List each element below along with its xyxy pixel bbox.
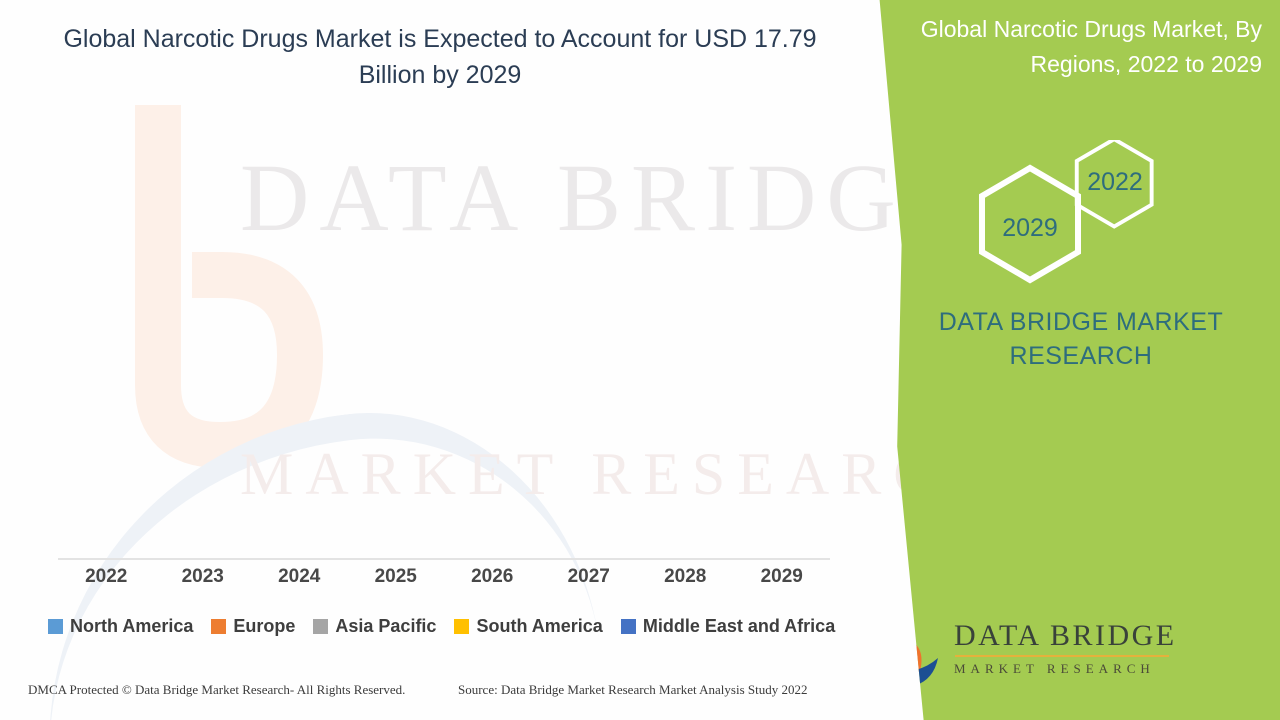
x-axis-label-2027: 2027 (541, 566, 638, 588)
x-axis-label-2029: 2029 (734, 566, 831, 588)
legend-swatch-icon (454, 619, 469, 634)
bar-slot (637, 158, 734, 558)
footer: DMCA Protected © Data Bridge Market Rese… (0, 680, 900, 710)
bar-slot (155, 158, 252, 558)
x-axis-label-2025: 2025 (348, 566, 445, 588)
legend-swatch-icon (48, 619, 63, 634)
legend-swatch-icon (313, 619, 328, 634)
footer-copyright: DMCA Protected © Data Bridge Market Rese… (28, 682, 405, 698)
chart-plot-area (40, 150, 830, 560)
legend-item[interactable]: South America (454, 616, 602, 637)
x-axis-label-2026: 2026 (444, 566, 541, 588)
logo-wordmark: DATA BRIDGE MARKET RESEARCH (954, 620, 1177, 677)
legend-item[interactable]: Middle East and Africa (621, 616, 835, 637)
bar-group (58, 158, 830, 558)
legend-item[interactable]: Asia Pacific (313, 616, 436, 637)
logo-sub-text: MARKET RESEARCH (954, 661, 1177, 677)
bar-slot (58, 158, 155, 558)
legend-label: Europe (233, 616, 295, 637)
legend-swatch-icon (211, 619, 226, 634)
legend-label: Middle East and Africa (643, 616, 835, 637)
legend-item[interactable]: North America (48, 616, 193, 637)
hexagon-group: 2029 2022 (960, 140, 1180, 290)
bar-slot (348, 158, 445, 558)
x-axis-label-2028: 2028 (637, 566, 734, 588)
legend-item[interactable]: Europe (211, 616, 295, 637)
brand-panel: Global Narcotic Drugs Market, By Regions… (840, 0, 1280, 720)
bar-slot (541, 158, 638, 558)
brand-name: DATA BRIDGE MARKET RESEARCH (916, 306, 1246, 374)
hexagon-end-year: 2022 (1087, 168, 1143, 196)
chart-legend: North AmericaEuropeAsia PacificSouth Ame… (48, 616, 838, 637)
legend-label: Asia Pacific (335, 616, 436, 637)
hexagon-start-year: 2029 (1002, 214, 1058, 242)
company-logo: DATA BRIDGE MARKET RESEARCH (858, 612, 1268, 698)
legend-swatch-icon (621, 619, 636, 634)
chart-panel: Global Narcotic Drugs Market is Expected… (0, 0, 900, 720)
infographic-root: DATA BRIDGE MARKET RESEARCH Global Narco… (0, 0, 1280, 720)
logo-main-text: DATA BRIDGE (954, 620, 1177, 652)
x-axis-line (58, 558, 830, 560)
legend-label: North America (70, 616, 193, 637)
x-axis-labels: 20222023202420252026202720282029 (58, 566, 830, 588)
panel-title: Global Narcotic Drugs Market, By Regions… (892, 12, 1262, 82)
x-axis-label-2024: 2024 (251, 566, 348, 588)
bar-slot (734, 158, 831, 558)
x-axis-label-2023: 2023 (155, 566, 252, 588)
bar-slot (251, 158, 348, 558)
x-axis-label-2022: 2022 (58, 566, 155, 588)
footer-source: Source: Data Bridge Market Research Mark… (458, 682, 807, 698)
page-title: Global Narcotic Drugs Market is Expected… (60, 22, 820, 93)
bar-slot (444, 158, 541, 558)
logo-divider (955, 655, 1169, 657)
legend-label: South America (476, 616, 602, 637)
